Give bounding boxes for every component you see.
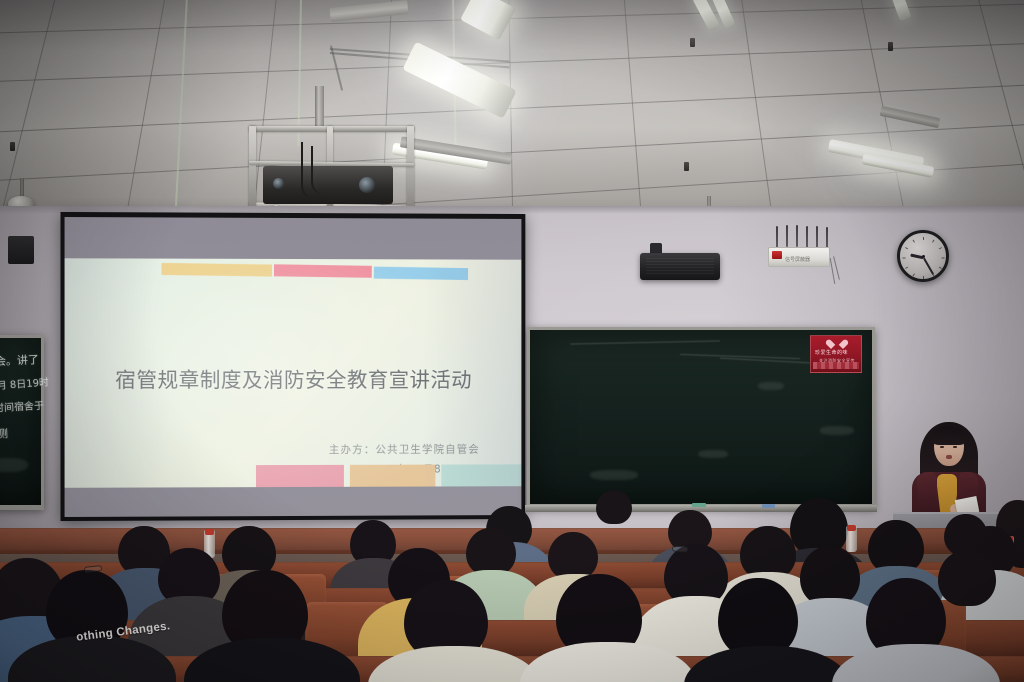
presenter-mouth [946,455,952,459]
bottle-cap [847,525,856,531]
poster-footer-strip [813,362,859,369]
tube-light [712,0,736,29]
sprinkler-head [888,42,893,51]
bottle-cap [205,529,214,535]
slide-bar-pink [274,264,372,277]
ceiling-cable-run [330,52,510,68]
audience-head [548,532,598,580]
wall-speaker [640,253,720,280]
clock-center-pin [922,255,925,258]
wall-mounted-box [8,236,34,264]
ceiling-projector [249,126,414,218]
chalk-writing-line: 五时间宿舍于 [0,397,44,415]
poster-title: 珍爱生命的味 [815,349,848,356]
lecture-hall-photo: 宿管规章制度及消防安全教育宣讲活动 主办方：公共卫生学院自管会 2019年11月… [0,0,1024,682]
clock-minute-hand [923,258,934,275]
tube-light-fixture [400,136,512,164]
chalk-writing-line: 11月 8日19时 [0,373,49,392]
brand-logo-icon [772,251,782,259]
projector-cable [311,146,333,194]
sprinkler-head [10,142,15,151]
audience-area [0,470,1024,682]
audience-head [800,546,860,606]
eyeglasses [672,545,688,552]
slide-bar-yellow [161,263,272,277]
tube-light [828,139,925,170]
chalk-writing-line: 理会。讲了 [0,351,39,370]
tube-light-fixture [329,0,408,22]
audience-head [596,490,632,524]
presenter-fringe [931,426,967,445]
tube-light [692,0,719,31]
signal-box-label: 信号屏蔽器 [785,256,810,263]
slide-title: 宿管规章制度及消防安全教育宣讲活动 [65,363,522,393]
tube-light-fixture [880,106,941,128]
tube-light [402,42,516,119]
wall-clock [897,230,949,282]
safety-poster: 珍爱生命的味 关注消防安全宣传 [810,335,862,373]
slide-bar-blue [374,267,468,280]
presentation-slide: 宿管规章制度及消防安全教育宣讲活动 主办方：公共卫生学院自管会 2019年11月… [65,258,522,488]
slide-host-line: 主办方：公共卫生学院自管会 [329,442,480,457]
sprinkler-head [690,38,695,47]
ceiling [0,0,1024,232]
ceiling-wire [297,0,302,146]
tube-light [862,153,935,178]
ceiling-wire [452,0,457,146]
sprinkler-head [684,162,689,171]
audience-head [938,550,996,606]
tube-light [460,0,516,40]
tube-light [891,0,912,21]
ceiling-cable [330,46,343,91]
audience-head [466,528,516,576]
ceiling-cable-run [330,48,510,62]
chalk-writing-line: 表测 [0,425,8,442]
ceiling-wire [174,0,188,226]
